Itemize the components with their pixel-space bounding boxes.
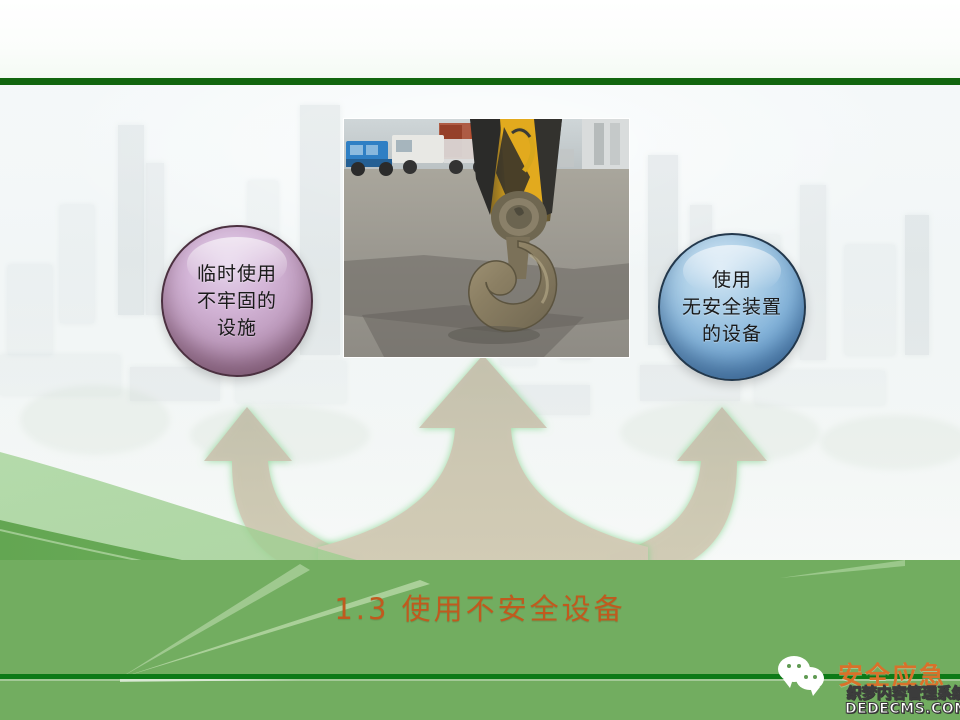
crane-hook-illustration xyxy=(344,119,630,358)
crane-hook-photo xyxy=(343,118,630,358)
top-divider xyxy=(0,78,960,85)
page-title: 1.3 使用不安全设备 xyxy=(0,586,960,628)
bubble-left[interactable]: 临时使用 不牢固的 设施 xyxy=(161,225,313,377)
wechat-dot xyxy=(813,675,817,679)
wechat-dot xyxy=(804,675,808,679)
bubble-right-label: 使用 无安全装置 的设备 xyxy=(682,267,782,348)
bubble-left-label: 临时使用 不牢固的 设施 xyxy=(197,261,277,342)
wechat-dot xyxy=(797,664,801,668)
watermark: 织梦内容管理系统 DEDECMS.COM xyxy=(845,686,960,716)
wechat-bubble-small xyxy=(796,667,824,690)
bubble-right[interactable]: 使用 无安全装置 的设备 xyxy=(658,233,806,381)
light-rays xyxy=(0,560,960,720)
wechat-icon xyxy=(778,654,830,694)
wechat-dot xyxy=(787,664,791,668)
watermark-line-en: DEDECMS.COM xyxy=(845,702,960,716)
top-white-band xyxy=(0,0,960,80)
slide-canvas: 临时使用 不牢固的 设施 使用 无安全装置 的设备 1.3 使用不安全设备 安全… xyxy=(0,0,960,720)
watermark-line-cn: 织梦内容管理系统 xyxy=(845,686,960,701)
